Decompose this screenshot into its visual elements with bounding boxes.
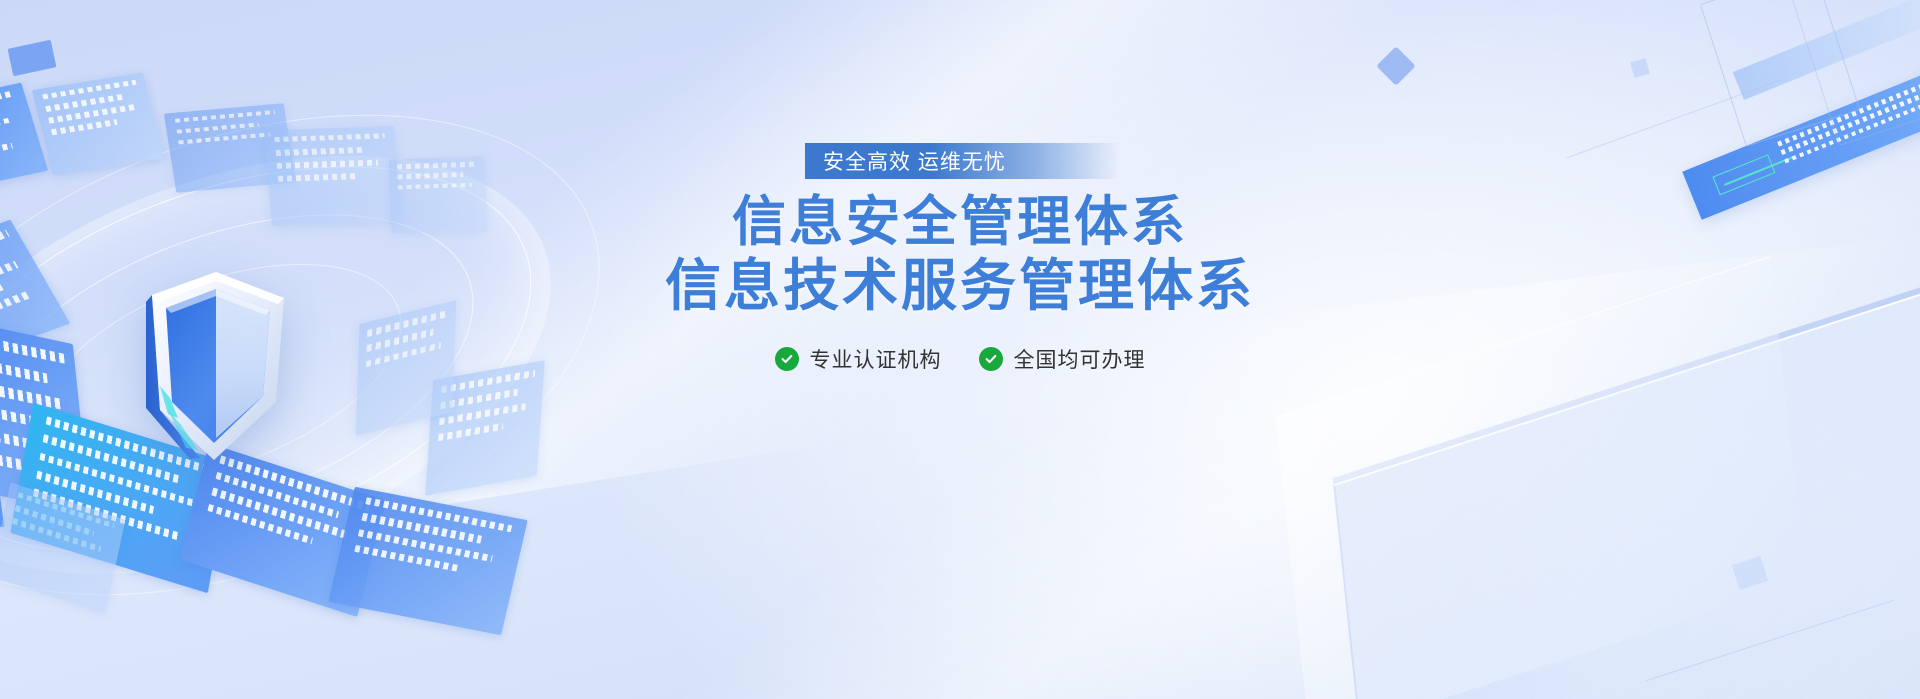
hero-banner: 安全高效 运维无忧 信息安全管理体系 信息技术服务管理体系 专业认证机构 全国	[0, 0, 1920, 699]
feature-item-1: 全国均可办理	[979, 344, 1146, 374]
hero-content: 安全高效 运维无忧 信息安全管理体系 信息技术服务管理体系 专业认证机构 全国	[0, 0, 1920, 699]
headline-line-2: 信息技术服务管理体系	[665, 255, 1255, 317]
tagline-badge: 安全高效 运维无忧	[805, 143, 1120, 179]
feature-label: 全国均可办理	[1014, 344, 1146, 374]
feature-list: 专业认证机构 全国均可办理	[775, 344, 1146, 374]
check-circle-icon	[775, 347, 799, 371]
feature-item-0: 专业认证机构	[775, 344, 942, 374]
headline-line-1: 信息安全管理体系	[732, 191, 1188, 253]
feature-label: 专业认证机构	[810, 344, 942, 374]
check-circle-icon	[979, 347, 1003, 371]
